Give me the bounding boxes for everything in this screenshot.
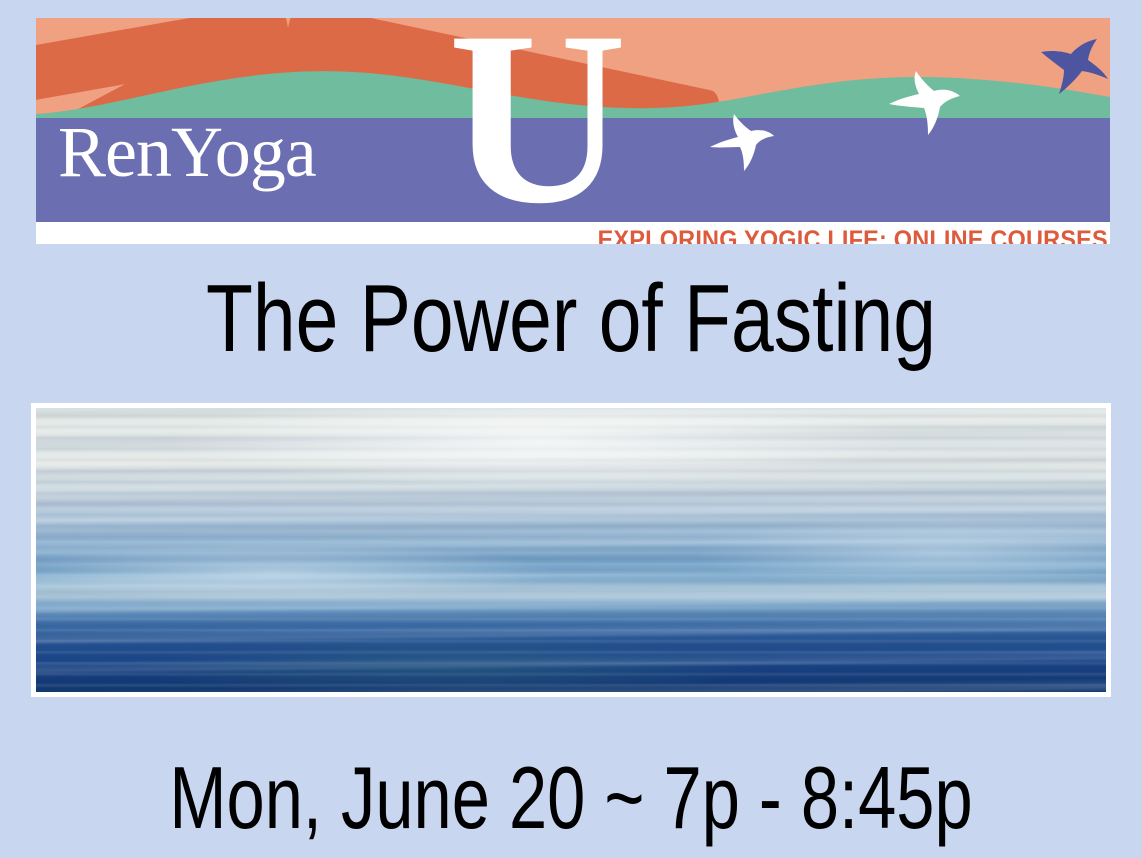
water-highlight-mid-right	[699, 516, 1106, 590]
ocean-photo-frame	[31, 403, 1111, 697]
water-highlight-top	[164, 408, 913, 488]
renyoga-u-banner: RenYoga U EXPLORING YOGIC LIFE: ONLINE C…	[36, 18, 1110, 244]
brand-wordmark: RenYoga	[58, 116, 316, 188]
page-title: The Power of Fasting	[114, 264, 1028, 374]
brand-initial-u: U	[448, 18, 627, 242]
water-teal-shadow	[122, 635, 764, 692]
water-highlight-mid-left	[36, 544, 550, 601]
ocean-photo	[36, 408, 1106, 692]
event-dateline: Mon, June 20 ~ 7p - 8:45p	[126, 748, 1017, 848]
banner-tagline: EXPLORING YOGIC LIFE: ONLINE COURSES	[598, 221, 1108, 244]
bird-white-right-icon	[887, 70, 969, 136]
bird-dark-topright-icon	[1040, 38, 1110, 96]
event-flyer-slide: RenYoga U EXPLORING YOGIC LIFE: ONLINE C…	[0, 0, 1142, 858]
bird-white-left-icon	[708, 110, 784, 172]
